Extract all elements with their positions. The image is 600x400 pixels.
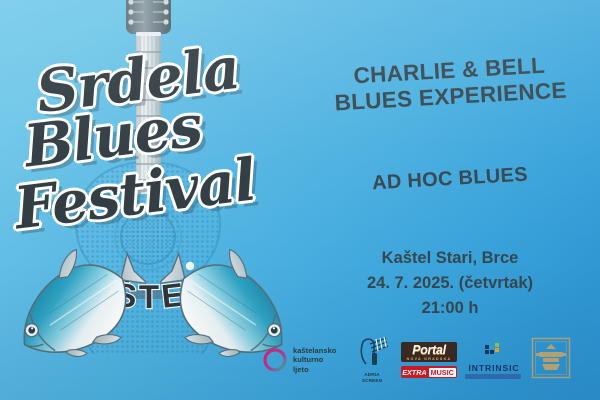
portal-subtitle: NOVA GRADSKA bbox=[401, 357, 457, 361]
extra-word: EXTRA bbox=[402, 368, 426, 377]
adria-screen-label: ADRIA SCREEN bbox=[351, 372, 393, 383]
extra-music-logo: EXTRA MUSIC bbox=[401, 366, 457, 378]
headliner-block: CHARLIE & BELL BLUES EXPERIENCE bbox=[299, 50, 600, 119]
sponsor-adria-screen: ADRIA SCREEN bbox=[351, 336, 393, 383]
intrinsic-underbar bbox=[465, 374, 521, 379]
festival-poster: Srdela Blues Festival KAŠTELA bbox=[0, 0, 600, 400]
sponsor-intrinsic: INTRINSIC bbox=[465, 341, 523, 380]
event-venue: Kaštel Stari, Brce bbox=[300, 246, 600, 271]
sponsor-kastelansko-kulturno-ljeto: kaštelansko kulturno ljeto bbox=[262, 346, 344, 374]
sponsor-crest bbox=[530, 336, 576, 385]
portal-logo: Portal NOVA GRADSKA bbox=[401, 342, 457, 362]
sardine-left bbox=[6, 248, 146, 373]
intrinsic-word: INTRINSIC bbox=[465, 363, 523, 373]
kkl-line-2: kulturno bbox=[293, 355, 336, 364]
adria-screen-hand-icon bbox=[354, 336, 390, 366]
support-block: AD HOC BLUES bbox=[300, 160, 600, 200]
event-details: Kaštel Stari, Brce 24. 7. 2025. (četvrta… bbox=[300, 246, 600, 321]
intrinsic-blocks-icon bbox=[483, 341, 505, 357]
kkl-label: kaštelansko kulturno ljeto bbox=[293, 346, 336, 374]
guitar-headstock bbox=[126, 0, 171, 36]
poster-artwork: Srdela Blues Festival KAŠTELA bbox=[0, 0, 300, 400]
support-line-1: AD HOC BLUES bbox=[300, 160, 600, 200]
sponsor-portal: Portal NOVA GRADSKA EXTRA MUSIC bbox=[400, 342, 458, 378]
portal-word: Portal bbox=[401, 343, 457, 357]
kkl-line-3: ljeto bbox=[293, 365, 336, 374]
sponsor-strip: kaštelansko kulturno ljeto bbox=[262, 331, 592, 389]
adria-line-2: SCREEN bbox=[351, 378, 393, 384]
event-time: 21:00 h bbox=[300, 296, 600, 321]
kkl-ring-icon bbox=[262, 347, 288, 373]
crest-icon bbox=[530, 336, 572, 380]
kkl-line-1: kaštelansko bbox=[293, 346, 336, 355]
music-word: MUSIC bbox=[429, 368, 456, 377]
event-date: 24. 7. 2025. (četvrtak) bbox=[300, 271, 600, 296]
